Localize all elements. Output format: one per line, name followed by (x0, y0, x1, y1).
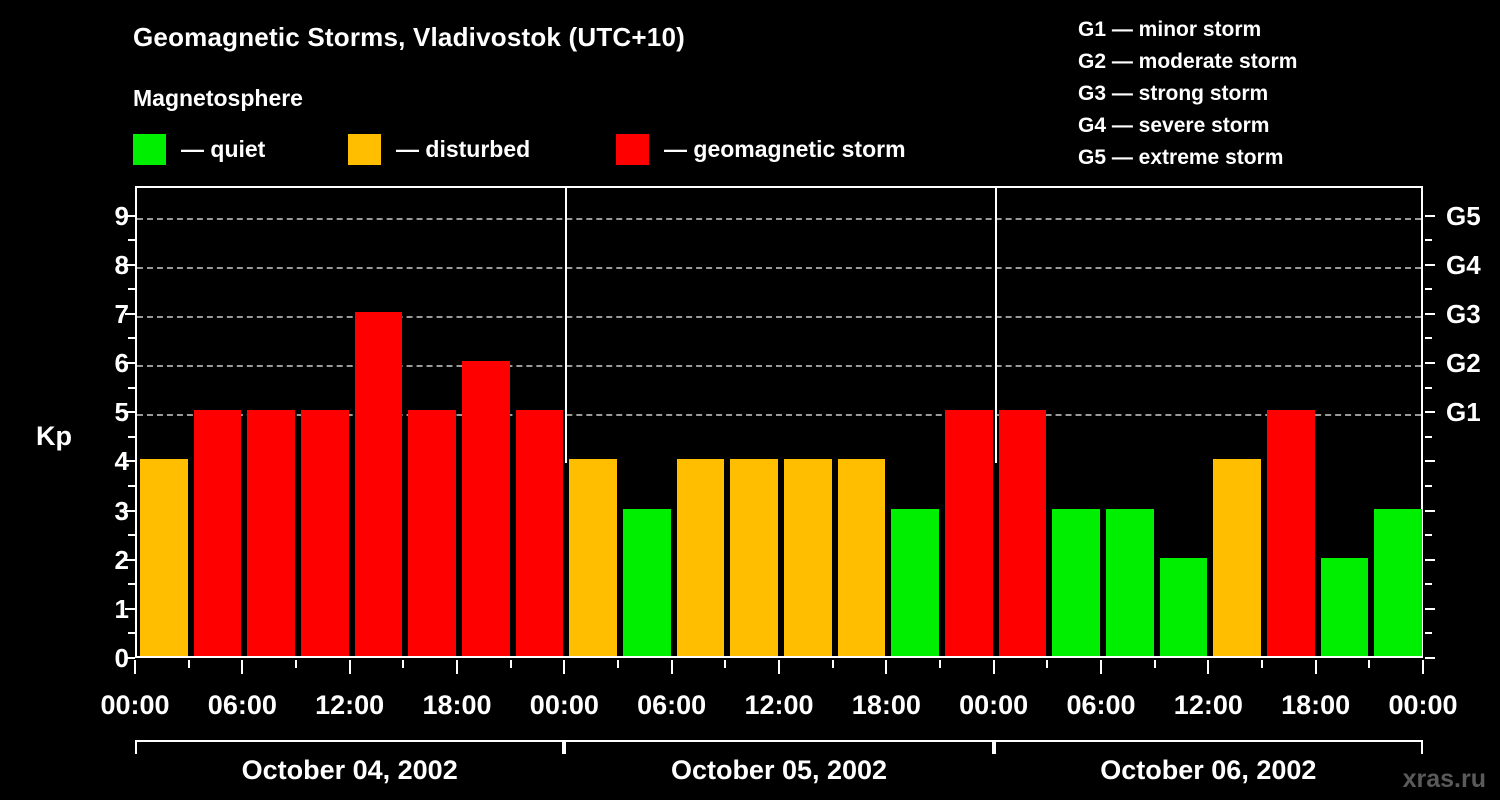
bar (784, 459, 832, 656)
y-tick-mark-6 (125, 362, 135, 364)
x-tick-mark (1261, 660, 1263, 668)
y-tick-mark-9 (125, 215, 135, 217)
y-tick-mark-0 (125, 657, 135, 659)
g-tick-mark-g5 (1425, 215, 1435, 217)
y-tick-label-9: 9 (69, 203, 129, 229)
plot-area (135, 186, 1423, 658)
x-tick-label: 06:00 (208, 690, 277, 721)
y-tick-label-1: 1 (69, 596, 129, 622)
x-tick-mark (1315, 660, 1317, 674)
bar (516, 410, 564, 656)
bar (1321, 558, 1369, 656)
y-tick-minor (128, 387, 135, 389)
x-tick-mark (510, 660, 512, 668)
g-scale-row-g2: G2 — moderate storm (1078, 46, 1297, 78)
bar (462, 361, 510, 656)
x-tick-mark (134, 660, 136, 674)
x-tick-label: 12:00 (315, 690, 384, 721)
x-tick-mark (188, 660, 190, 668)
y-tick-mark-4 (125, 460, 135, 462)
y-tick-minor (128, 632, 135, 634)
y-tick-mark-3 (125, 510, 135, 512)
y-tick-minor (128, 485, 135, 487)
bar (301, 410, 349, 656)
x-tick-label: 12:00 (1174, 690, 1243, 721)
bar (999, 410, 1047, 656)
day-label-1: October 04, 2002 (242, 755, 458, 786)
x-tick-mark (1368, 660, 1370, 668)
y-tick-label-4: 4 (69, 448, 129, 474)
legend-item-disturbed: — disturbed (348, 133, 530, 165)
x-tick-mark (885, 660, 887, 674)
y-tick-label-0: 0 (69, 645, 129, 671)
x-tick-mark (349, 660, 351, 674)
x-tick-mark (1100, 660, 1102, 674)
x-tick-mark (295, 660, 297, 668)
x-tick-mark (1207, 660, 1209, 674)
y-tick-minor (128, 239, 135, 241)
x-tick-mark (1422, 660, 1424, 674)
g-tick-minor (1425, 436, 1432, 438)
bar (1374, 509, 1422, 657)
bar (1213, 459, 1261, 656)
bar (1052, 509, 1100, 657)
g-tick-label-g2: G2 (1446, 350, 1481, 376)
x-tick-label: 18:00 (852, 690, 921, 721)
y-tick-label-3: 3 (69, 498, 129, 524)
bar (945, 410, 993, 656)
g-tick-minor (1425, 485, 1432, 487)
g-scale-row-g3: G3 — strong storm (1078, 78, 1297, 110)
bar (677, 459, 725, 656)
x-tick-label: 18:00 (422, 690, 491, 721)
legend-label-disturbed: — disturbed (396, 136, 530, 163)
g-tick-minor (1425, 583, 1432, 585)
legend-swatch-disturbed-icon (348, 134, 381, 165)
day-bracket-1 (135, 740, 564, 754)
g-tick-minor (1425, 632, 1432, 634)
bar (1160, 558, 1208, 656)
bar (194, 410, 242, 656)
y-tick-label-5: 5 (69, 399, 129, 425)
day-label-3: October 06, 2002 (1100, 755, 1316, 786)
x-tick-label: 00:00 (959, 690, 1028, 721)
legend-label-quiet: — quiet (181, 136, 265, 163)
y-tick-mark-2 (125, 559, 135, 561)
x-tick-label: 18:00 (1281, 690, 1350, 721)
g-tick-label-g3: G3 (1446, 301, 1481, 327)
x-tick-mark (993, 660, 995, 674)
x-tick-mark (402, 660, 404, 668)
y-tick-minor (128, 583, 135, 585)
bar (247, 410, 295, 656)
x-tick-mark (671, 660, 673, 674)
g-tick-minor (1425, 559, 1435, 561)
bar (569, 459, 617, 656)
x-tick-mark (939, 660, 941, 668)
legend-swatch-quiet-icon (133, 134, 166, 165)
y-axis-label: Kp (36, 421, 72, 452)
x-tick-label: 00:00 (1388, 690, 1457, 721)
g-tick-mark-g1 (1425, 411, 1435, 413)
g-tick-label-g4: G4 (1446, 252, 1481, 278)
bar (838, 459, 886, 656)
page-title: Geomagnetic Storms, Vladivostok (UTC+10) (133, 22, 685, 53)
g-tick-minor (1425, 288, 1432, 290)
y-tick-minor (128, 436, 135, 438)
bar (355, 312, 403, 656)
g-scale-row-g1: G1 — minor storm (1078, 14, 1297, 46)
x-tick-mark (1154, 660, 1156, 668)
y-tick-mark-5 (125, 411, 135, 413)
y-tick-mark-7 (125, 313, 135, 315)
y-tick-minor (128, 288, 135, 290)
chart-subtitle: Magnetosphere (133, 85, 303, 112)
g-scale-row-g4: G4 — severe storm (1078, 110, 1297, 142)
day-bracket-3 (994, 740, 1423, 754)
g-tick-minor (1425, 657, 1435, 659)
legend-item-storm: — geomagnetic storm (616, 133, 906, 165)
x-tick-mark (724, 660, 726, 668)
g-tick-minor (1425, 460, 1435, 462)
g-scale-row-g5: G5 — extreme storm (1078, 142, 1297, 174)
x-tick-label: 00:00 (100, 690, 169, 721)
x-tick-mark (241, 660, 243, 674)
x-tick-mark (617, 660, 619, 668)
x-tick-label: 12:00 (744, 690, 813, 721)
x-tick-label: 06:00 (1066, 690, 1135, 721)
day-bracket-2 (564, 740, 993, 754)
y-tick-label-7: 7 (69, 301, 129, 327)
y-tick-label-8: 8 (69, 252, 129, 278)
bar (623, 509, 671, 657)
g-tick-minor (1425, 239, 1432, 241)
day-label-2: October 05, 2002 (671, 755, 887, 786)
legend-swatch-storm-icon (616, 134, 649, 165)
legend-item-quiet: — quiet (133, 133, 265, 165)
y-tick-label-6: 6 (69, 350, 129, 376)
y-tick-minor (128, 337, 135, 339)
x-tick-mark (456, 660, 458, 674)
g-tick-minor (1425, 534, 1432, 536)
watermark: xras.ru (1403, 765, 1486, 794)
g-tick-mark-g3 (1425, 313, 1435, 315)
g-tick-label-g5: G5 (1446, 203, 1481, 229)
x-tick-label: 00:00 (530, 690, 599, 721)
x-tick-mark (778, 660, 780, 674)
legend-label-storm: — geomagnetic storm (664, 136, 906, 163)
bar-series (137, 188, 1421, 656)
bar (140, 459, 188, 656)
chart-root: Geomagnetic Storms, Vladivostok (UTC+10)… (0, 0, 1500, 800)
x-tick-label: 06:00 (637, 690, 706, 721)
g-tick-minor (1425, 608, 1435, 610)
bar (730, 459, 778, 656)
bar (891, 509, 939, 657)
bar (1267, 410, 1315, 656)
g-tick-minor (1425, 510, 1435, 512)
g-tick-minor (1425, 337, 1432, 339)
bar (408, 410, 456, 656)
g-tick-label-g1: G1 (1446, 399, 1481, 425)
g-scale-legend: G1 — minor stormG2 — moderate stormG3 — … (1078, 14, 1297, 174)
x-tick-mark (563, 660, 565, 674)
g-tick-mark-g2 (1425, 362, 1435, 364)
y-tick-mark-8 (125, 264, 135, 266)
g-tick-minor (1425, 387, 1432, 389)
y-tick-mark-1 (125, 608, 135, 610)
x-tick-mark (832, 660, 834, 668)
bar (1106, 509, 1154, 657)
x-tick-mark (1046, 660, 1048, 668)
y-tick-label-2: 2 (69, 547, 129, 573)
y-tick-minor (128, 534, 135, 536)
g-tick-mark-g4 (1425, 264, 1435, 266)
